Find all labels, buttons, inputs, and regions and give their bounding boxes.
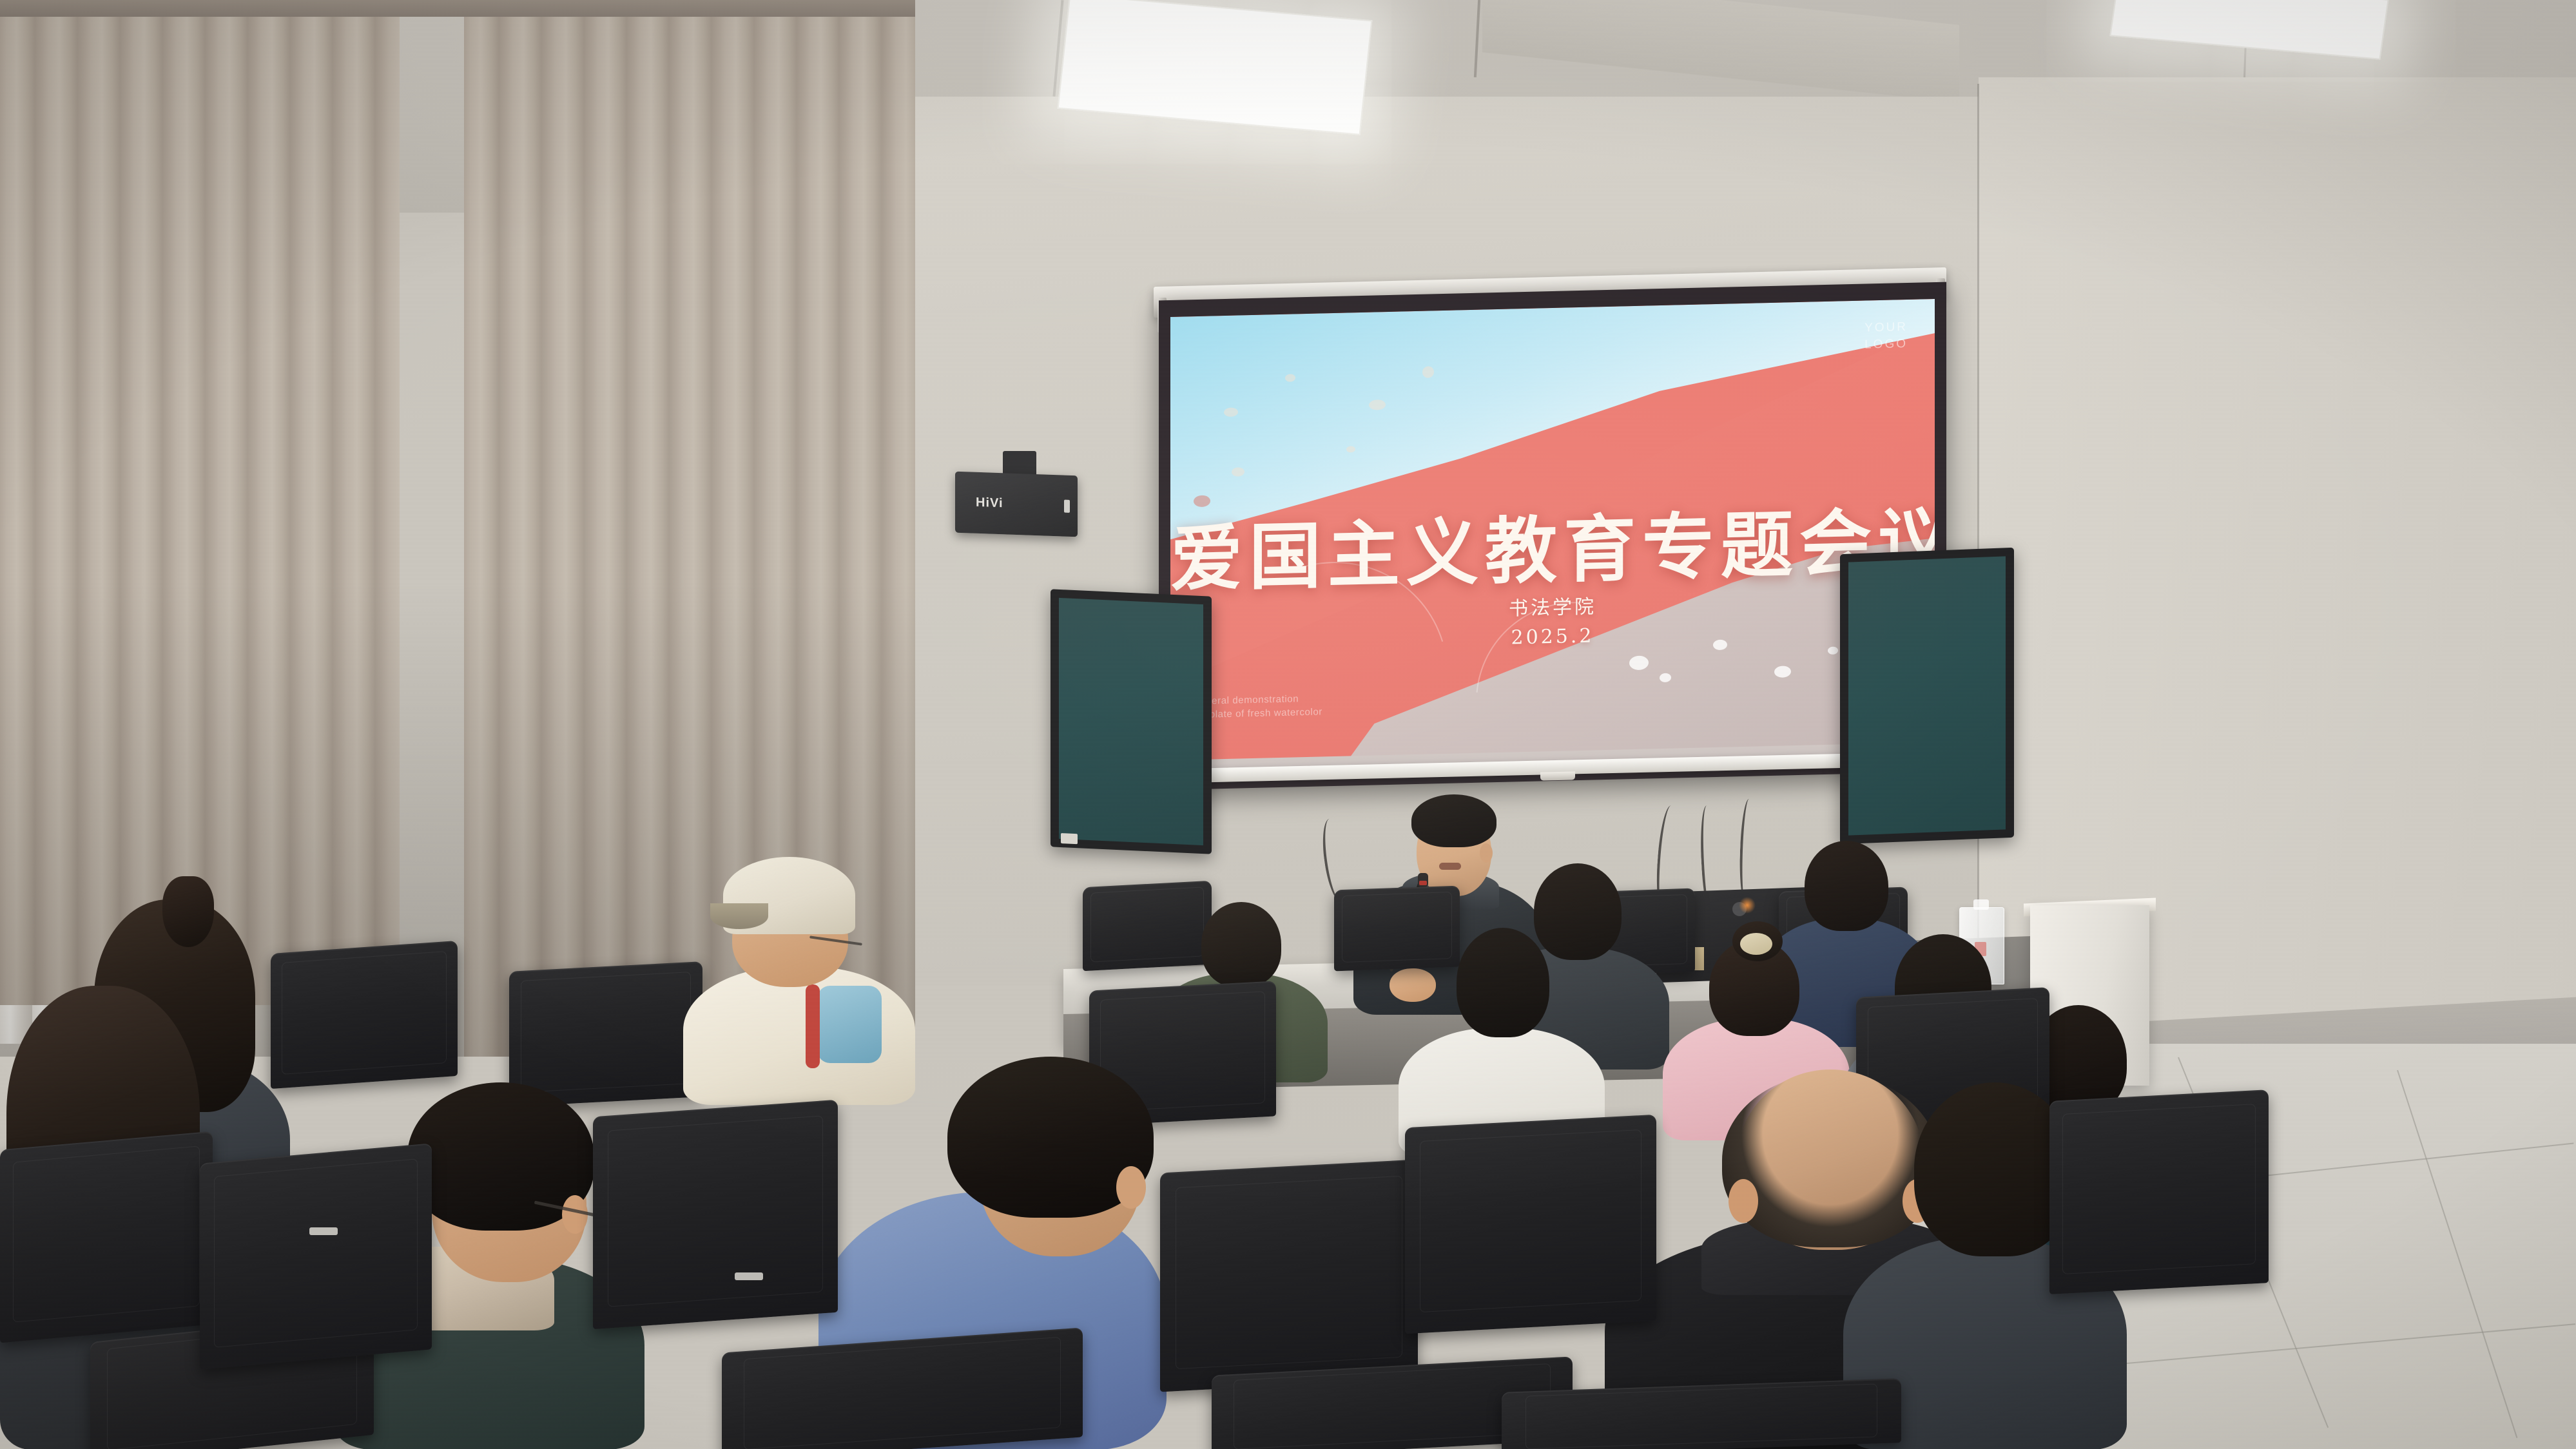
display-logo-badge	[1061, 833, 1078, 844]
slide-speckle	[1232, 467, 1244, 476]
chair-seat-number-tag	[309, 1227, 338, 1235]
baseball-cap-brim	[710, 903, 768, 929]
attendee-ear	[1116, 1166, 1146, 1209]
slide-logo-placeholder: YOUR LOGO	[1864, 319, 1908, 353]
attendee-hair	[1201, 902, 1281, 987]
presentation-slide: 爱国主义教育专题会议 书法学院 2025.2 YOUR LOGO General…	[1170, 299, 1935, 777]
slide-footer-credit: General demonstration template of fresh …	[1192, 691, 1322, 722]
projection-screen-pull-knob[interactable]	[1540, 771, 1575, 780]
wall-speaker: HiVi	[955, 472, 1078, 537]
chair[interactable]	[722, 1327, 1083, 1449]
chair[interactable]	[200, 1143, 432, 1369]
slide-logo-line1: YOUR	[1864, 319, 1908, 336]
hair-scrunchie	[1740, 933, 1772, 955]
attendee-hair	[1457, 928, 1549, 1037]
display-screen	[1848, 556, 2006, 835]
attendee-ear	[1729, 1179, 1758, 1223]
chair[interactable]	[2049, 1089, 2269, 1294]
slide-speckle	[1285, 374, 1295, 381]
chair[interactable]	[1405, 1115, 1656, 1334]
chair[interactable]	[593, 1100, 838, 1330]
chair-seat-number-tag	[735, 1272, 763, 1280]
attendee-shirt-trim	[806, 984, 820, 1068]
projection-screen: 爱国主义教育专题会议 书法学院 2025.2 YOUR LOGO General…	[1159, 282, 1946, 791]
chair[interactable]	[0, 1131, 213, 1343]
slide-speckle	[1828, 646, 1838, 654]
display-panel-left[interactable]	[1051, 589, 1212, 854]
chair[interactable]	[271, 941, 458, 1089]
attendee-hair	[1805, 841, 1888, 931]
speaker-brand-label: HiVi	[976, 495, 1003, 511]
display-screen	[1059, 598, 1203, 845]
microphone-indicator	[1419, 881, 1427, 885]
water-bottle-bag-handle	[1973, 899, 1989, 910]
display-panel-right[interactable]	[1840, 548, 2014, 844]
attendee-shirt-stripe	[817, 986, 882, 1063]
presenter-mouth	[1439, 863, 1461, 870]
chair[interactable]	[1160, 1160, 1418, 1392]
slide-logo-line2: LOGO	[1864, 336, 1908, 353]
attendee-ponytail	[162, 876, 214, 947]
speaker-led-indicator	[1064, 500, 1070, 513]
presenter-hair	[1411, 794, 1496, 847]
lecture-hall-photo: HiVi 爱国主义教育专题会议	[0, 0, 2576, 1449]
equipment-status-light	[1739, 897, 1756, 914]
attendee-white-coat	[1399, 928, 1605, 1147]
presenter-ear	[1480, 843, 1493, 863]
